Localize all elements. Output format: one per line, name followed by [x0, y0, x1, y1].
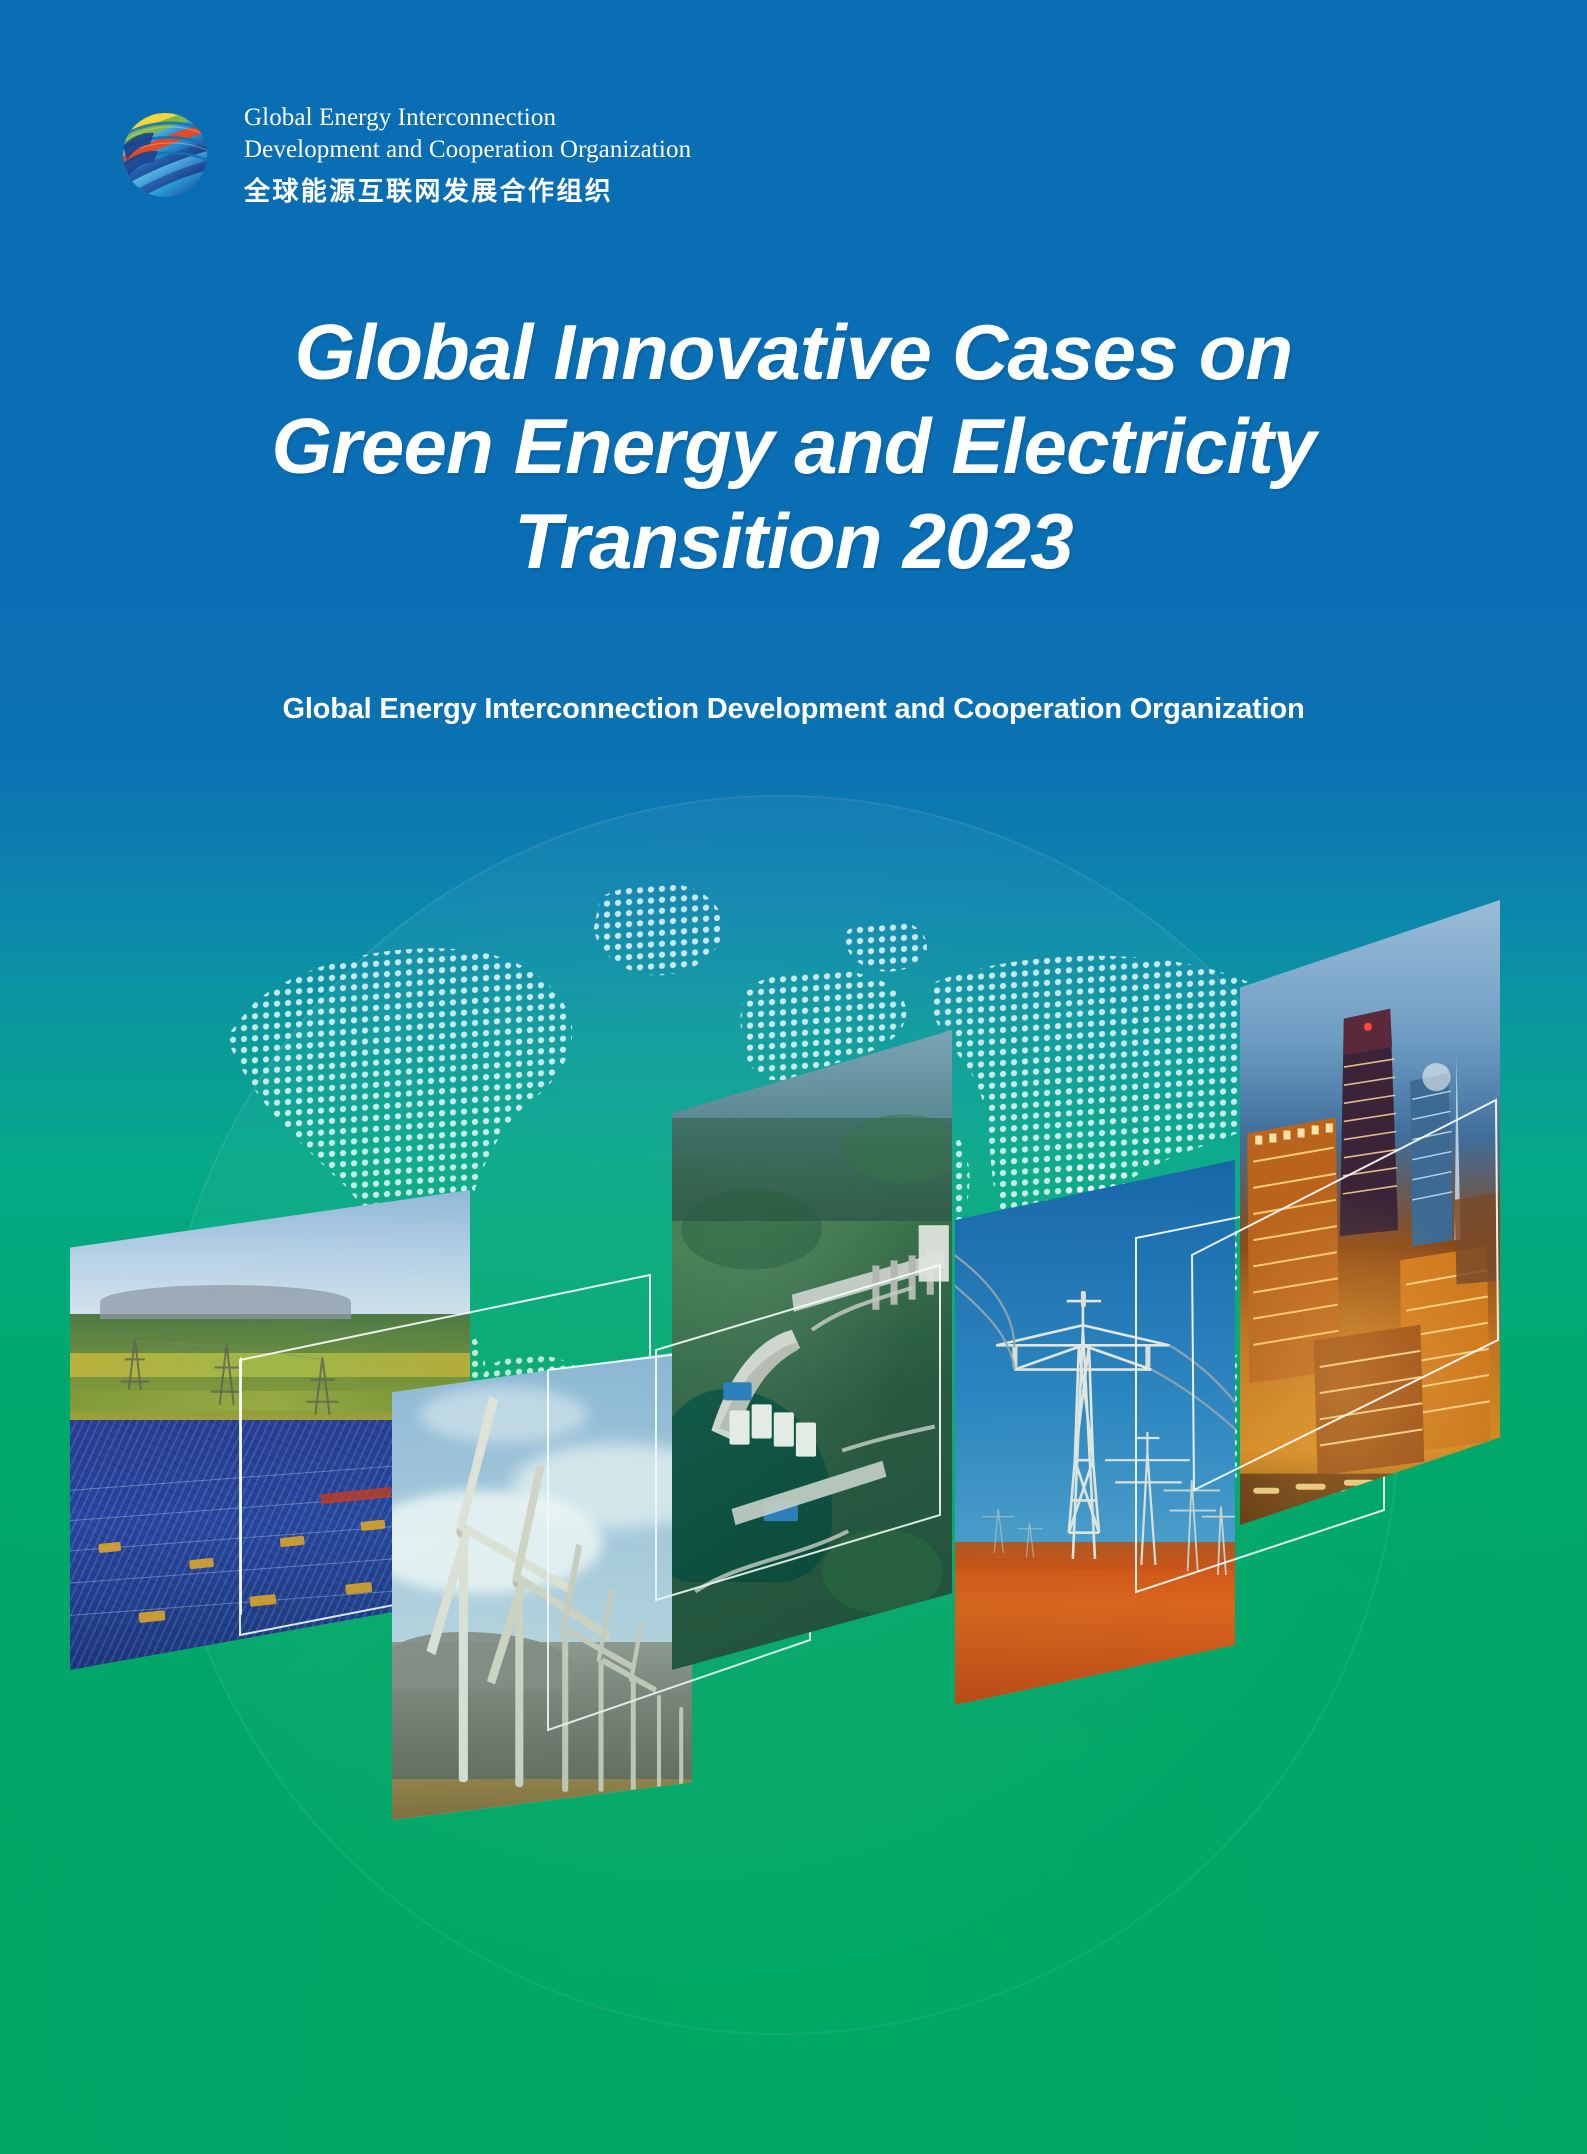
cover-page: Global Energy Interconnection Developmen… — [0, 0, 1587, 2154]
frame-hydro-outline — [650, 1255, 950, 1655]
photo-panel-montage — [0, 0, 1587, 2154]
frame-city-outline — [1186, 1090, 1516, 1520]
